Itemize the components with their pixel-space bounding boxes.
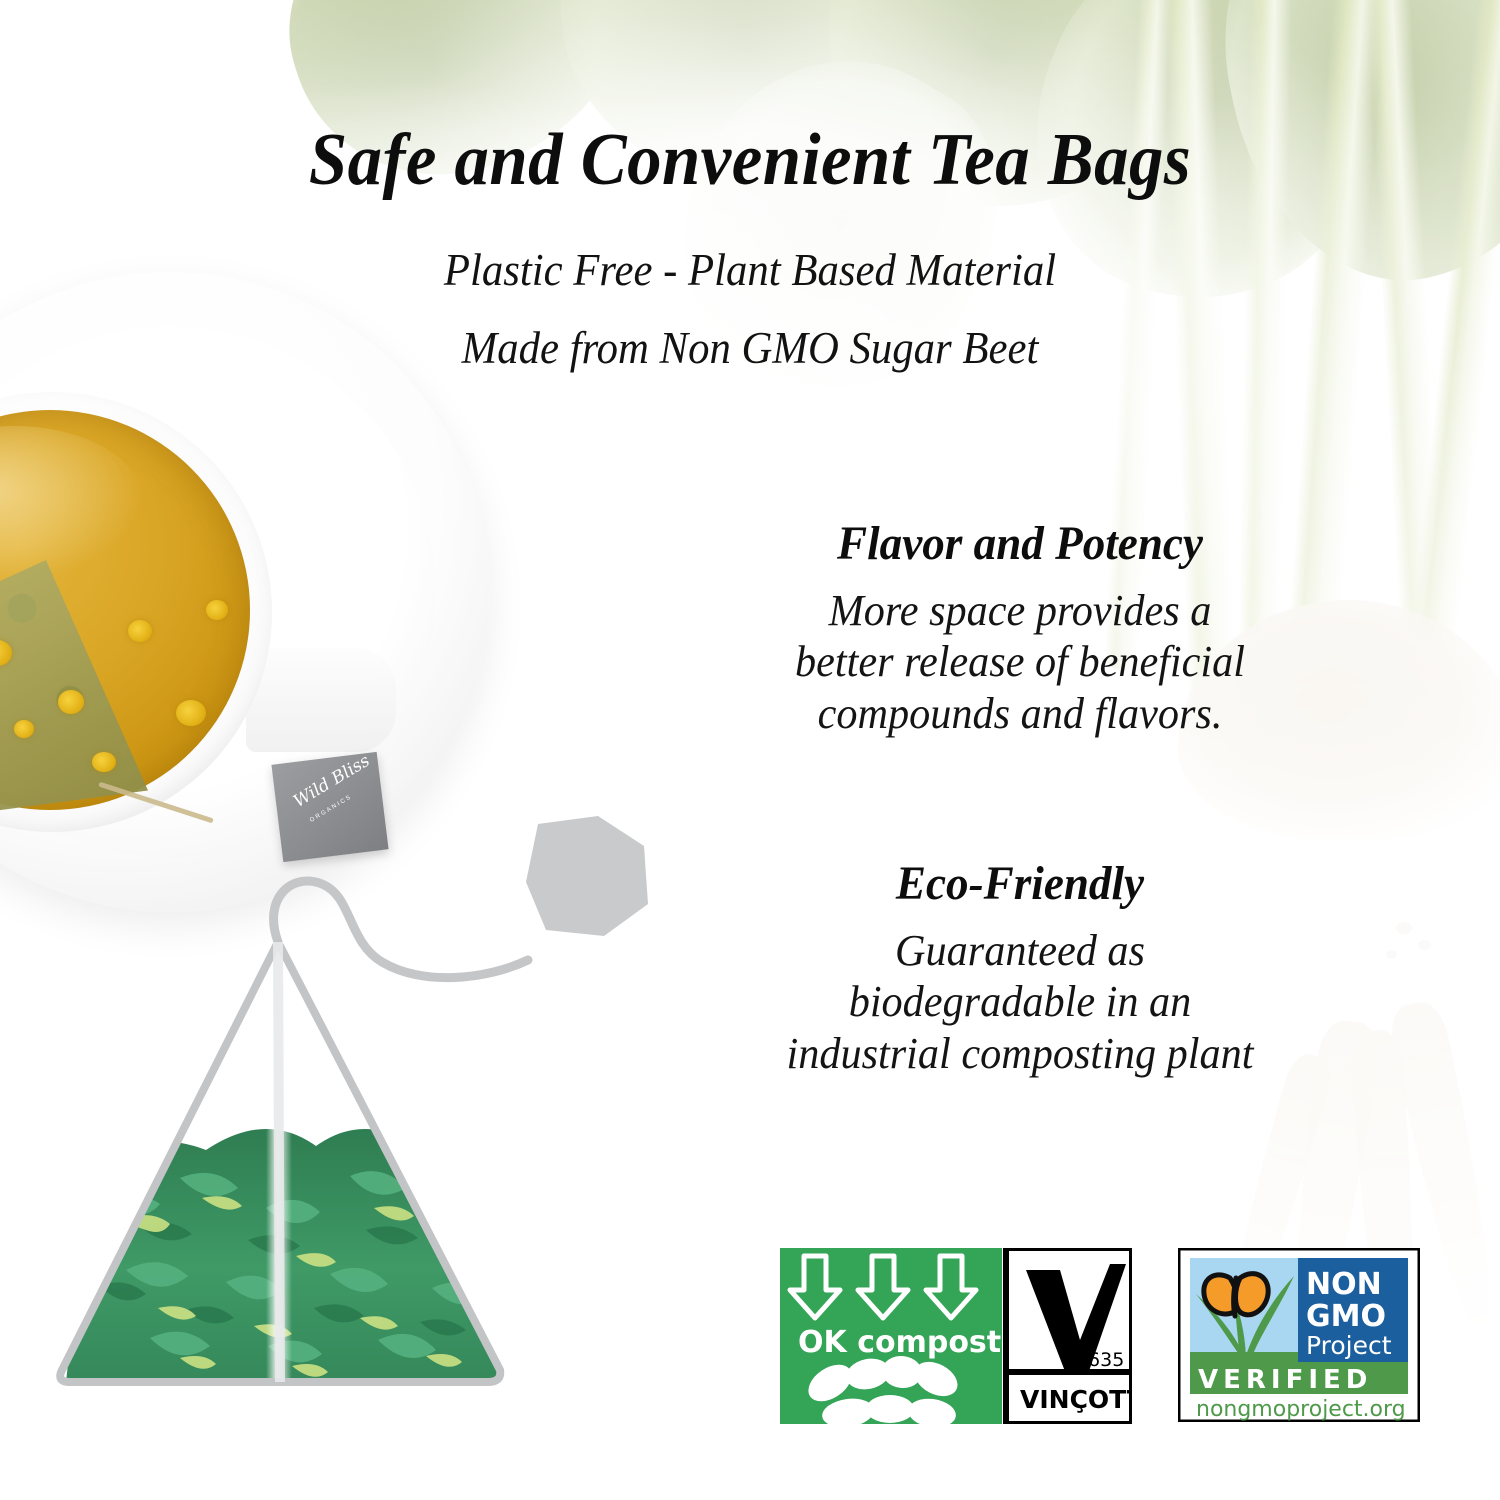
project-text: Project [1306,1331,1392,1360]
subtitle-line-1: Plastic Free - Plant Based Material [38,244,1463,296]
chamomile-flower-icon [14,720,34,738]
infographic-canvas: Wild Bliss ORGANICS [0,0,1500,1500]
chamomile-flower-icon [206,600,228,620]
ok-compost-text: OK compost [798,1325,1001,1360]
tea-surface-highlight [0,426,146,586]
chamomile-flower-icon [92,752,116,772]
feature-body-line: compounds and flavors. [636,688,1404,739]
non-text: NON [1306,1267,1382,1302]
feature-title: Eco-Friendly [644,856,1396,911]
feature-body: More space provides a better release of … [636,585,1404,739]
feature-body-line: industrial composting plant [636,1028,1404,1079]
cup-handle [246,648,396,752]
butterfly-icon [1204,1274,1268,1316]
badge-ok-compost: OK compost S635 VINÇOTTE OK co [780,1248,1132,1424]
tea-bag-string-icon [274,881,528,978]
verified-text: VERIFIED [1198,1365,1372,1395]
brand-tag-logo: Wild Bliss [291,758,363,811]
chamomile-flower-icon [128,620,152,642]
chamomile-flower-icon [58,690,84,714]
certification-badges: OK compost S635 VINÇOTTE OK co [780,1248,1430,1438]
beet-leaf-icon [628,7,1053,443]
pyramid-tea-bag-illustration [30,810,670,1460]
feature-block-flavor: Flavor and Potency More space provides a… [620,516,1420,739]
vincotte-code: S635 [1076,1349,1124,1371]
non-gmo-url: nongmoproject.org [1196,1397,1406,1422]
feature-block-eco: Eco-Friendly Guaranteed as biodegradable… [620,856,1420,1079]
chamomile-flower-icon [176,700,206,726]
badge-non-gmo-project: NON GMO Project VERIFIED nongmoproject.o… [1178,1248,1420,1422]
vincotte-wordmark: VINÇOTTE [1020,1385,1132,1414]
feature-body-line: Guaranteed as [636,925,1404,976]
page-title: Safe and Convenient Tea Bags [53,118,1448,203]
feature-body: Guaranteed as biodegradable in an indust… [636,925,1404,1079]
gmo-text: GMO [1306,1299,1386,1334]
feature-body-line: better release of beneficial [636,636,1404,687]
feature-body-line: More space provides a [636,585,1404,636]
feature-title: Flavor and Potency [644,516,1396,571]
badge-name: OK compost / VINCOTTE [1132,1248,1133,1249]
subtitle-line-2: Made from Non GMO Sugar Beet [38,322,1463,374]
pyramid-bag-seam [278,942,280,1382]
feature-body-line: biodegradable in an [636,976,1404,1027]
badge-name: Non GMO Project Verified [1420,1248,1421,1249]
